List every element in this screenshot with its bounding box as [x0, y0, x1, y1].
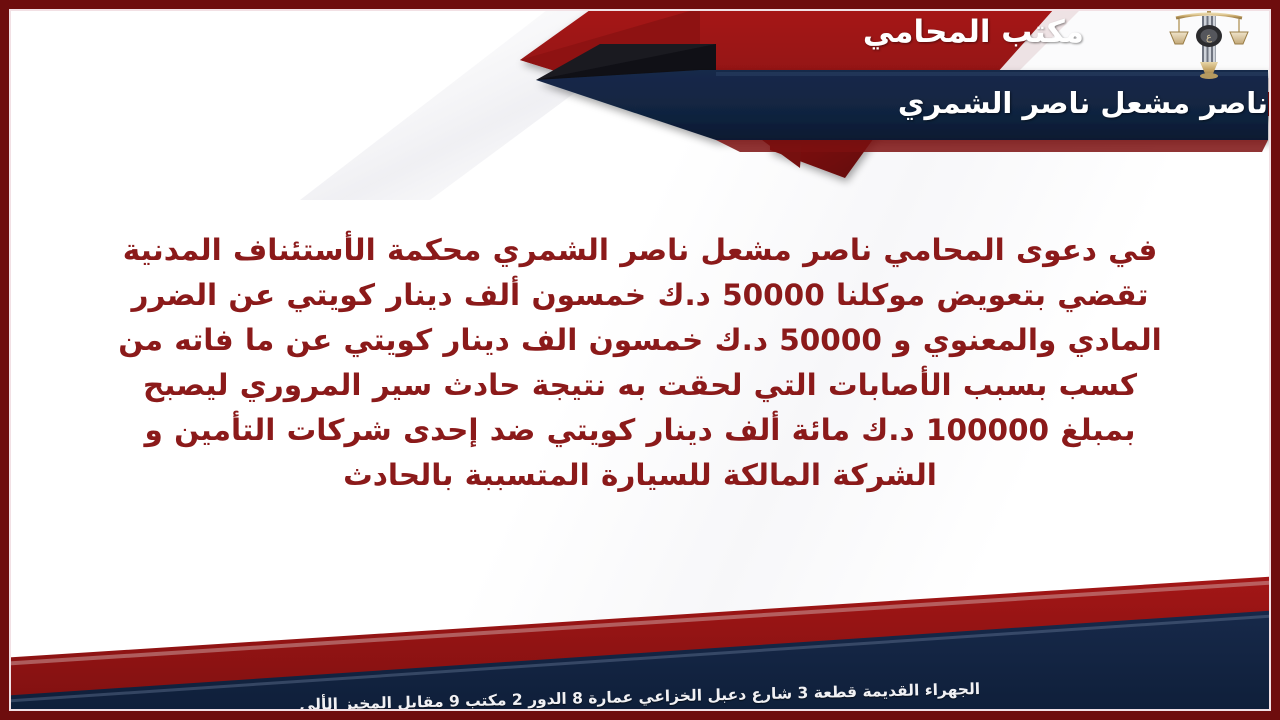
body-line: المادي والمعنوي و 50000 د.ك خمسون الف دي… [64, 318, 1216, 363]
body-line: تقضي بتعويض موكلنا 50000 د.ك خمسون ألف د… [64, 273, 1216, 318]
body-line: بمبلغ 100000 د.ك مائة ألف دينار كويتي ضد… [64, 408, 1216, 453]
scales-of-justice-icon: ع [1166, 2, 1252, 84]
body-line: كسب بسبب الأصابات التي لحقت به نتيجة حاد… [64, 363, 1216, 408]
body-line: في دعوى المحامي ناصر مشعل ناصر الشمري مح… [64, 228, 1216, 273]
body-line: الشركة المالكة للسيارة المتسببة بالحادث [64, 453, 1216, 498]
svg-text:ع: ع [1206, 32, 1212, 43]
case-summary-text: في دعوى المحامي ناصر مشعل ناصر الشمري مح… [64, 228, 1216, 498]
presentation-slide: مكتب المحامي ناصر مشعل ناصر الشمري [0, 0, 1280, 720]
header-ribbon [0, 0, 1280, 200]
footer-banner [0, 570, 1280, 720]
